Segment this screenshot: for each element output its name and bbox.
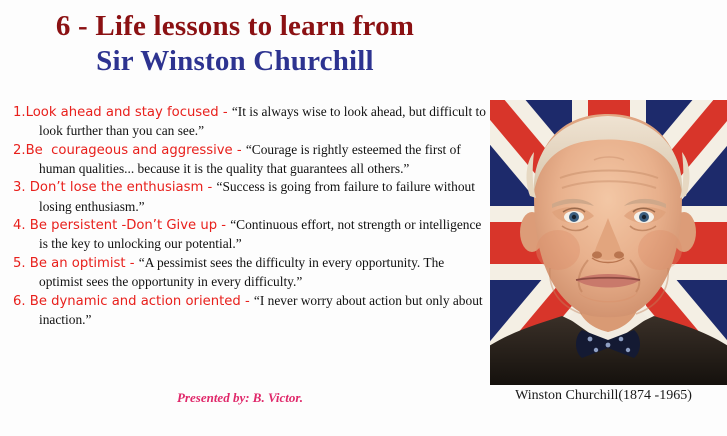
lesson-heading: 3. Don’t lose the enthusiasm <box>13 180 203 195</box>
churchill-portrait <box>490 100 727 385</box>
list-item: 6. Be dynamic and action oriented - “I n… <box>13 292 491 330</box>
list-item: 3. Don’t lose the enthusiasm - “Success … <box>13 178 491 216</box>
lesson-dash: - <box>241 294 254 309</box>
lesson-dash: - <box>203 180 216 195</box>
lesson-text: 4. Be persistent -Don’t Give up - “Conti… <box>13 216 491 254</box>
lesson-text: 2.Be courageous and aggressive - “Courag… <box>13 141 491 179</box>
lesson-heading: 1.Look ahead and stay focused <box>13 105 219 120</box>
list-item: 1.Look ahead and stay focused - “It is a… <box>13 103 491 141</box>
list-item: 2.Be courageous and aggressive - “Courag… <box>13 141 491 179</box>
poster-page: 6 - Life lessons to learn from Sir Winst… <box>0 0 727 436</box>
lesson-text: 6. Be dynamic and action oriented - “I n… <box>13 292 491 330</box>
lesson-dash: - <box>233 143 246 158</box>
portrait-caption: Winston Churchill(1874 -1965) <box>480 388 727 404</box>
lesson-heading: 5. Be an optimist <box>13 256 126 271</box>
page-title: 6 - Life lessons to learn from Sir Winst… <box>0 10 470 79</box>
lesson-list: 1.Look ahead and stay focused - “It is a… <box>13 103 491 329</box>
title-line-secondary: Sir Winston Churchill <box>0 45 470 78</box>
list-item: 4. Be persistent -Don’t Give up - “Conti… <box>13 216 491 254</box>
lesson-heading: 2.Be courageous and aggressive <box>13 143 233 158</box>
lesson-heading: 4. Be persistent -Don’t Give up <box>13 218 217 233</box>
lesson-dash: - <box>126 256 139 271</box>
lesson-text: 5. Be an optimist - “A pessimist sees th… <box>13 254 491 292</box>
list-item: 5. Be an optimist - “A pessimist sees th… <box>13 254 491 292</box>
portrait-figure <box>490 100 727 385</box>
presented-by-credit: Presented by: B. Victor. <box>0 390 480 406</box>
lesson-heading: 6. Be dynamic and action oriented <box>13 294 241 309</box>
lesson-dash: - <box>219 105 232 120</box>
lesson-text: 1.Look ahead and stay focused - “It is a… <box>13 103 491 141</box>
title-line-primary: 6 - Life lessons to learn from <box>0 10 470 42</box>
lesson-text: 3. Don’t lose the enthusiasm - “Success … <box>13 178 491 216</box>
lesson-dash: - <box>217 218 230 233</box>
